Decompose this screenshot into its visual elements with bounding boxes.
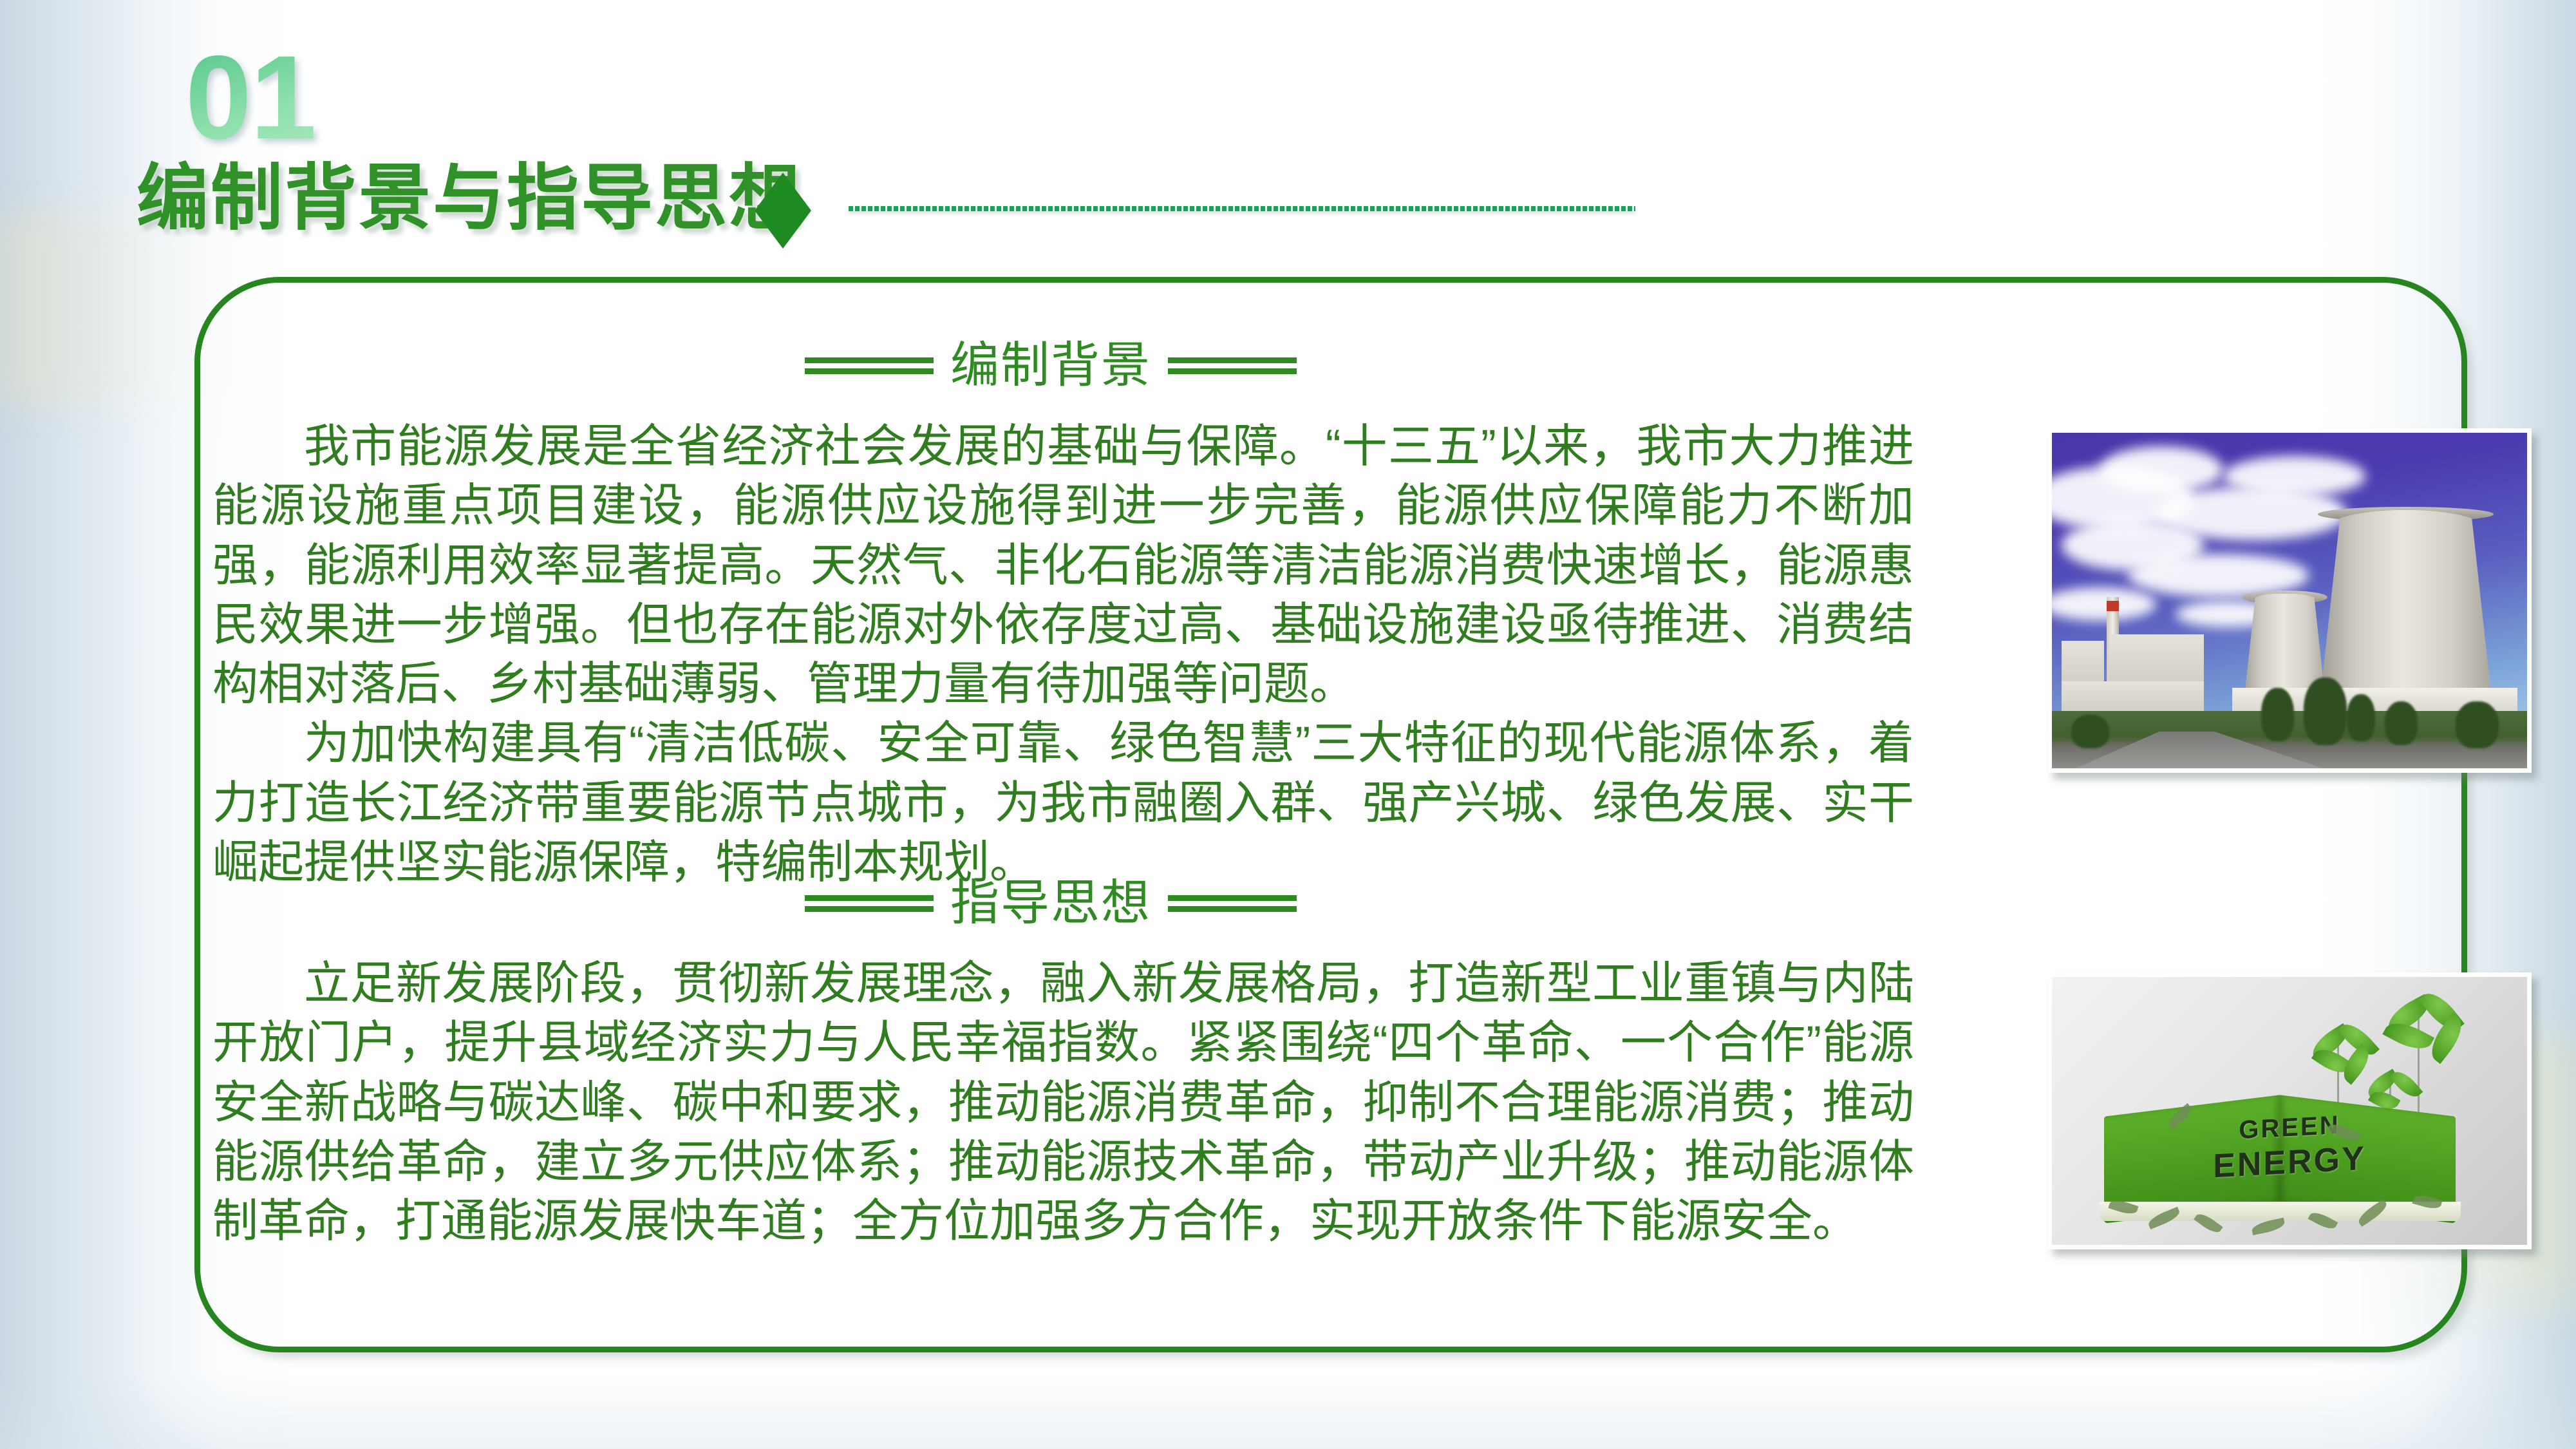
smokestack-band [2107, 601, 2119, 612]
header-dashed-rule [849, 206, 1635, 211]
tree-icon [2304, 677, 2346, 744]
green-energy-photo-inner: GREEN ENERGY [2052, 977, 2527, 1245]
section-number: 01 [185, 39, 315, 158]
tree-icon [2071, 715, 2109, 748]
tree-icon [2456, 701, 2498, 748]
power-plant-photo [2047, 428, 2532, 773]
cloud-icon [2100, 446, 2223, 493]
heading-rule-right-icon [1168, 894, 1297, 913]
section-body-guiding-thought: 立足新发展阶段，贯彻新发展理念，融入新发展格局，打造新型工业重镇与内陆开放门户，… [212, 954, 1914, 1251]
section-heading-label: 编制背景 [950, 341, 1151, 390]
cooling-tower-large [2318, 510, 2494, 718]
tree-icon [2347, 694, 2375, 741]
section-body-background: 我市能源发展是全省经济社会发展的基础与保障。“十三五”以来，我市大力推进能源设施… [212, 417, 1914, 893]
heading-rule-right-icon [1168, 356, 1297, 375]
content-area: 编制背景 我市能源发展是全省经济社会发展的基础与保障。“十三五”以来，我市大力推… [194, 277, 2467, 1352]
green-energy-photo: GREEN ENERGY [2047, 972, 2532, 1249]
power-plant-photo-inner [2052, 433, 2527, 768]
background-gradient-bottom [0, 1372, 2576, 1449]
paragraph: 我市能源发展是全省经济社会发展的基础与保障。“十三五”以来，我市大力推进能源设施… [212, 417, 1914, 714]
section-heading-label: 指导思想 [950, 879, 1151, 928]
heading-rule-left-icon [805, 356, 934, 375]
section-heading-guiding-thought: 指导思想 [194, 879, 1907, 928]
paragraph: 为加快构建具有“清洁低碳、安全可靠、绿色智慧”三大特征的现代能源体系，着力打造长… [212, 714, 1914, 893]
section-heading-background: 编制背景 [194, 341, 1907, 390]
cloud-icon [2223, 456, 2365, 497]
paragraph: 立足新发展阶段，贯彻新发展理念，融入新发展格局，打造新型工业重镇与内陆开放门户，… [212, 954, 1914, 1251]
tree-icon [2261, 688, 2295, 741]
heading-rule-left-icon [805, 894, 934, 913]
slide-header: 01 编制背景与指导思想 [0, 0, 2576, 258]
page-title: 编制背景与指导思想 [136, 162, 803, 234]
tree-icon [2385, 701, 2418, 745]
slide-canvas: 01 编制背景与指导思想 编制背景 我市能源发展是全省经济社会发展的基础与保障。… [0, 0, 2576, 1449]
